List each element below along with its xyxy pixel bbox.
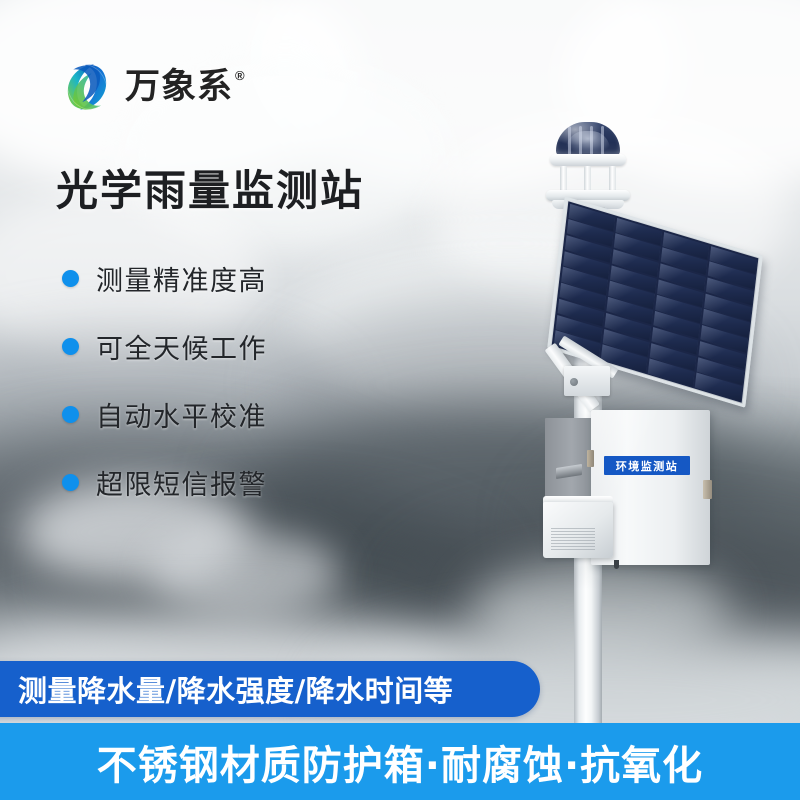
page-title: 光学雨量监测站 bbox=[56, 168, 364, 214]
door-hinge bbox=[587, 450, 594, 467]
brand-name: 万象系 bbox=[125, 70, 233, 105]
list-item: 可全天候工作 bbox=[62, 330, 267, 363]
feature-label: 自动水平校准 bbox=[96, 395, 267, 434]
list-item: 自动水平校准 bbox=[62, 398, 267, 431]
product-poster: 万象系 ® 光学雨量监测站 测量精准度高 可全天候工作 自动水平校准 超限短信报… bbox=[0, 0, 800, 800]
optical-rain-sensor-dome-icon bbox=[556, 122, 620, 156]
bottom-tagline-bar: 不锈钢材质防护箱·耐腐蚀·抗氧化 bbox=[0, 723, 800, 800]
feature-banner-text: 测量降水量/降水强度/降水时间等 bbox=[18, 668, 453, 710]
bullet-dot-icon bbox=[62, 406, 79, 423]
feature-label: 测量精准度高 bbox=[96, 259, 267, 298]
bullet-dot-icon bbox=[62, 338, 79, 355]
cloud-highlight bbox=[150, 530, 340, 615]
sensor-post bbox=[584, 166, 591, 192]
control-enclosure: 环境监测站 bbox=[545, 410, 710, 570]
sensor-collar bbox=[550, 154, 626, 166]
sensor-post bbox=[560, 166, 567, 192]
status-badge: 环境监测站 bbox=[604, 456, 690, 475]
feature-label: 可全天候工作 bbox=[96, 327, 267, 366]
feature-label: 超限短信报警 bbox=[96, 463, 267, 502]
battery-box-grill bbox=[551, 528, 595, 550]
bottom-tagline-text: 不锈钢材质防护箱·耐腐蚀·抗氧化 bbox=[97, 733, 703, 791]
product-photo: 环境监测站 bbox=[460, 110, 800, 725]
brand-logo: 万象系 ® bbox=[58, 58, 245, 116]
globe-swirl-logo-icon bbox=[58, 58, 116, 116]
clamp-bolt bbox=[570, 378, 578, 386]
list-item: 测量精准度高 bbox=[62, 262, 267, 295]
sensor-post bbox=[609, 166, 616, 192]
feature-banner-pill: 测量降水量/降水强度/降水时间等 bbox=[0, 661, 540, 717]
bullet-dot-icon bbox=[62, 474, 79, 491]
cabinet-label-text: 环境监测站 bbox=[616, 458, 679, 474]
cable-gland bbox=[614, 560, 619, 569]
bullet-dot-icon bbox=[62, 270, 79, 287]
door-latch[interactable] bbox=[703, 480, 712, 499]
feature-list: 测量精准度高 可全天候工作 自动水平校准 超限短信报警 bbox=[62, 262, 267, 534]
enclosure-vent bbox=[556, 464, 582, 479]
list-item: 超限短信报警 bbox=[62, 466, 267, 499]
registered-mark: ® bbox=[235, 68, 245, 83]
